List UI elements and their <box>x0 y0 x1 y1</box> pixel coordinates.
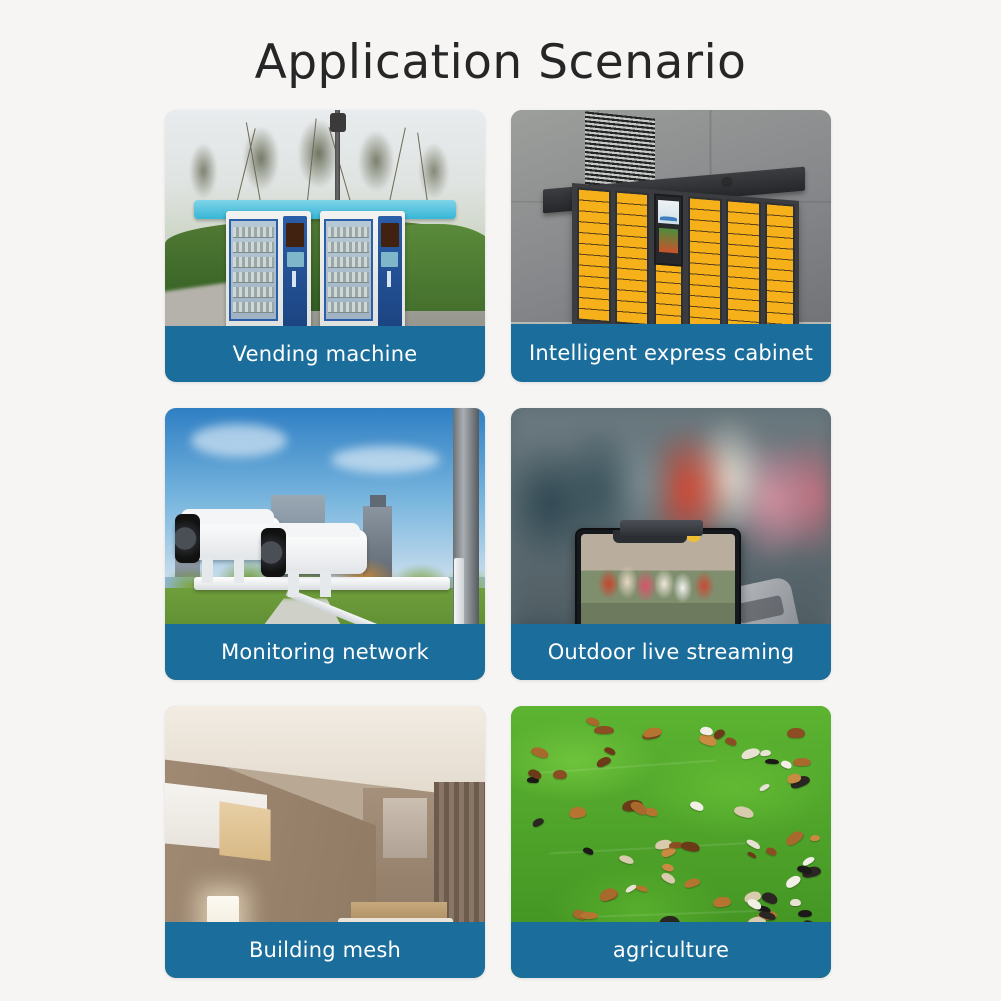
locker-column <box>765 202 795 337</box>
goat <box>580 912 598 919</box>
camera-lens <box>175 514 200 563</box>
goat <box>793 758 811 766</box>
card-caption-building-mesh: Building mesh <box>165 922 485 978</box>
goat <box>790 899 801 906</box>
price-indicator <box>292 271 296 286</box>
scenario-card-agriculture[interactable]: agriculture <box>511 706 831 978</box>
card-caption-monitoring-network: Monitoring network <box>165 624 485 680</box>
application-scenario-page: Application Scenario <box>0 0 1001 1001</box>
scenario-card-monitoring-network[interactable]: Monitoring network <box>165 408 485 680</box>
smartphone <box>575 528 741 637</box>
camera-mount <box>202 558 213 583</box>
control-panel <box>378 216 402 326</box>
keypad-screen <box>287 252 304 267</box>
phone-clamp-top <box>620 520 703 536</box>
page-title: Application Scenario <box>0 36 1001 90</box>
phone-screen-video <box>581 534 735 631</box>
control-panel <box>283 216 307 326</box>
bullet-camera <box>261 530 367 574</box>
locker-bank-frame <box>572 183 799 342</box>
card-caption-intelligent-express-cabinet: Intelligent express cabinet <box>511 324 831 382</box>
kiosk-terminal <box>654 193 684 266</box>
keypad-screen <box>381 252 398 267</box>
scenario-card-grid: Vending machine <box>165 110 837 978</box>
goat <box>552 769 566 778</box>
locker-column <box>615 190 649 326</box>
pole-head <box>330 113 346 132</box>
scenario-card-outdoor-live-streaming[interactable]: Outdoor live streaming <box>511 408 831 680</box>
kiosk-display <box>658 200 679 224</box>
goat <box>594 726 614 734</box>
scenario-card-intelligent-express-cabinet[interactable]: Intelligent express cabinet <box>511 110 831 382</box>
card-caption-vending-machine: Vending machine <box>165 326 485 382</box>
goat <box>765 758 779 764</box>
camera-lens <box>261 528 286 577</box>
camera-mount <box>288 571 299 596</box>
locker-column <box>576 187 610 323</box>
cloud <box>191 424 287 457</box>
kiosk-ad-panel <box>659 228 677 253</box>
goat <box>787 728 805 738</box>
scenario-card-vending-machine[interactable]: Vending machine <box>165 110 485 382</box>
locker-column <box>688 196 722 332</box>
card-caption-agriculture: agriculture <box>511 922 831 978</box>
locker-column <box>726 199 760 335</box>
price-indicator <box>387 271 391 286</box>
product-window <box>229 219 278 321</box>
display-screen <box>381 223 399 247</box>
product-window <box>324 219 373 321</box>
camera-mount <box>234 558 245 583</box>
scenario-card-building-mesh[interactable]: Building mesh <box>165 706 485 978</box>
wall-mirror <box>383 798 428 858</box>
card-caption-outdoor-live-streaming: Outdoor live streaming <box>511 624 831 680</box>
display-screen <box>286 223 304 247</box>
camera-mount <box>320 571 331 596</box>
wood-cabinet-door <box>219 801 270 861</box>
